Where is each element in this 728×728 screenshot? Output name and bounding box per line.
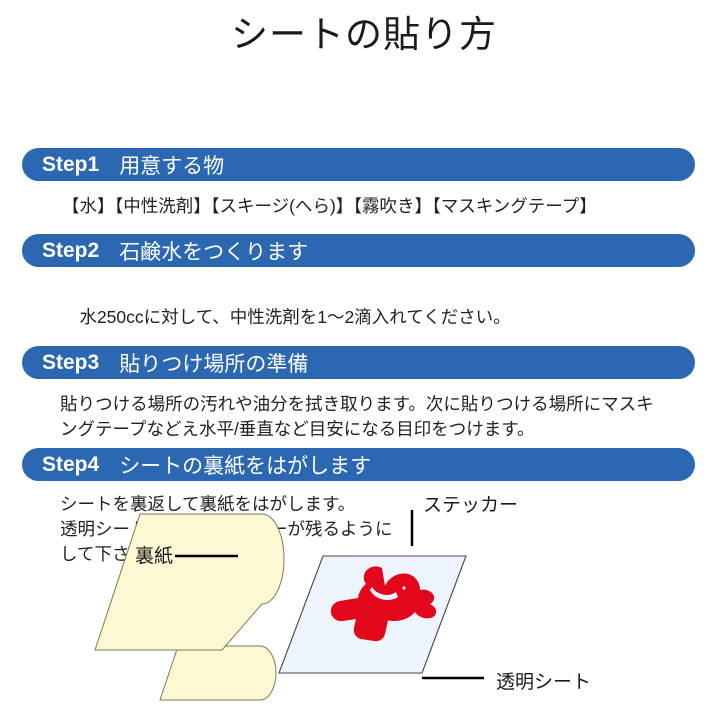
step-heading-1: 用意する物 [99, 150, 224, 180]
step-body-1: 【水】【中性洗剤】【スキージ(へら)】【霧吹き】【マスキングテープ】 [62, 194, 597, 219]
step-number-3: Step3 [22, 351, 99, 375]
step-heading-2: 石鹸水をつくります [99, 236, 308, 266]
sticker-text-line2: Cocoa [688, 644, 728, 674]
step-bar-1: Step1 用意する物 [22, 148, 695, 181]
sticker-text-line1: Toy Poodle [701, 621, 728, 655]
step-bar-4: Step4 シートの裏紙をはがします [22, 448, 695, 481]
label-sticker: ステッカー [423, 496, 518, 515]
step-number-2: Step2 [22, 239, 99, 263]
backing-paper-shape [95, 514, 284, 650]
sticker-text: Toy Poodle Cocoa [688, 621, 728, 674]
step-bar-3: Step3 貼りつけ場所の準備 [22, 346, 695, 379]
step-heading-4: シートの裏紙をはがします [99, 450, 371, 480]
peel-illustration: Toy Poodle Cocoa [0, 488, 728, 728]
step-number-4: Step4 [22, 453, 99, 477]
label-backing-paper: 裏紙 [135, 547, 173, 566]
step-body-2-text: 水250ccに対して、中性洗剤を1〜2滴入れてください。 [79, 307, 510, 327]
page-title: シートの貼り方 [0, 0, 728, 62]
step-bar-2: Step2 石鹸水をつくります [22, 234, 695, 267]
step-body-3: 貼りつける場所の汚れや油分を拭き取ります。次に貼りつける場所にマスキングテープな… [60, 392, 660, 442]
peel-illustration-svg: Toy Poodle Cocoa [0, 488, 728, 728]
step-heading-3: 貼りつけ場所の準備 [99, 348, 308, 378]
backing-paper-curl [160, 646, 276, 700]
step-number-1: Step1 [22, 153, 99, 177]
label-clear-sheet: 透明シート [496, 673, 591, 692]
